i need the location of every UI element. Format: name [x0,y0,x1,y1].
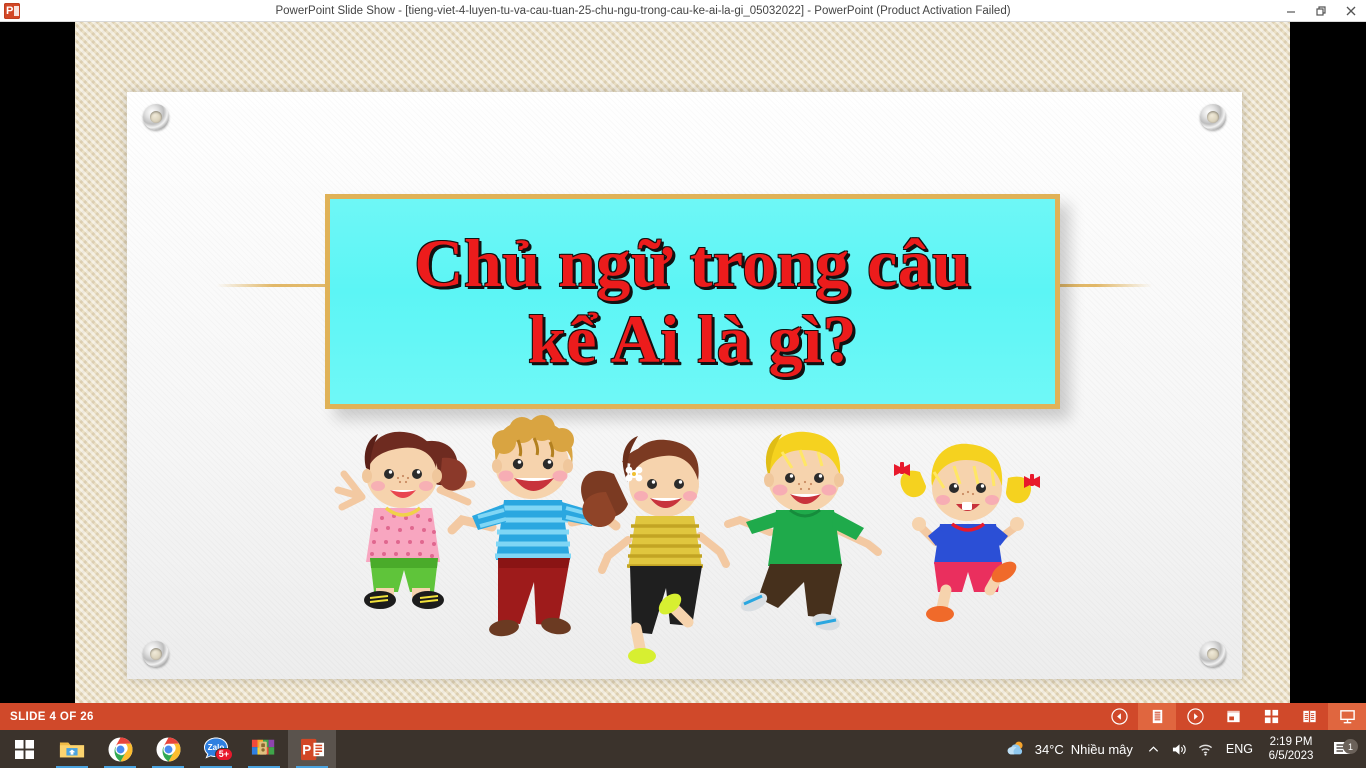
end-show-button[interactable] [1328,703,1366,730]
system-tray: 34°C Nhiều mây ENG 2:19 P [998,730,1366,768]
taskbar-winrar[interactable] [240,730,288,768]
taskbar-chrome-1[interactable] [96,730,144,768]
taskbar-powerpoint[interactable]: P [288,730,336,768]
cloud-sun-icon [1006,740,1028,758]
slide-title-line-2: kể Ai là gì? [528,305,857,374]
notification-badge: 1 [1343,739,1358,754]
slideshow-status-bar: SLIDE 4 OF 26 [0,703,1366,730]
all-slides-button[interactable] [1252,703,1290,730]
chrome-icon [108,737,133,762]
kid-2 [452,415,616,638]
kid-5 [894,444,1040,622]
show-hidden-icons-button[interactable] [1141,743,1167,756]
children-illustration [322,412,1062,672]
kid-1 [338,432,472,609]
clock[interactable]: 2:19 PM 6/5/2023 [1260,735,1322,764]
taskbar-file-explorer[interactable] [48,730,96,768]
start-button[interactable] [0,730,48,768]
slide-canvas[interactable]: Chủ ngữ trong câu kể Ai là gì? [127,92,1242,679]
clock-date: 6/5/2023 [1269,749,1314,763]
winrar-icon [251,737,277,761]
slide-counter: SLIDE 4 OF 26 [0,711,94,723]
volume-button[interactable] [1167,742,1193,757]
minimize-button[interactable] [1276,0,1306,22]
next-slide-button[interactable] [1176,703,1214,730]
grommet-bottom-left-icon [143,641,169,667]
chrome-icon [156,737,181,762]
hair-tie-right [1024,474,1040,488]
taskbar-zalo[interactable]: Zalo 5+ [192,730,240,768]
chevron-up-icon [1147,743,1160,756]
pen-tools-button[interactable] [1138,703,1176,730]
window-controls [1276,0,1366,22]
window-title-bar: PowerPoint Slide Show - [tieng-viet-4-lu… [0,0,1366,22]
weather-condition: Nhiều mây [1071,742,1133,757]
slide-title-line-1: Chủ ngữ trong câu [414,229,970,298]
clock-time: 2:19 PM [1270,735,1313,749]
windows-taskbar: Zalo 5+ P [0,730,1366,768]
slide-title-box: Chủ ngữ trong câu kể Ai là gì? [325,194,1060,409]
slide-zoom-button[interactable] [1214,703,1252,730]
window-title: PowerPoint Slide Show - [tieng-viet-4-lu… [20,5,1366,17]
slideshow-backdrop: Chủ ngữ trong câu kể Ai là gì? [0,22,1366,703]
folder-icon [59,737,85,761]
grommet-bottom-right-icon [1200,641,1226,667]
powerpoint-icon [4,3,20,19]
speaker-icon [1171,742,1188,757]
restore-button[interactable] [1306,0,1336,22]
weather-temperature: 34°C [1035,742,1064,757]
grommet-top-left-icon [143,104,169,130]
previous-slide-button[interactable] [1100,703,1138,730]
network-button[interactable] [1193,742,1219,757]
slideshow-toolbar [1100,703,1366,730]
grommet-top-right-icon [1200,104,1226,130]
powerpoint-icon: P [300,737,325,762]
close-button[interactable] [1336,0,1366,22]
presenter-view-button[interactable] [1290,703,1328,730]
kid-3 [581,436,726,664]
language-indicator[interactable]: ENG [1219,742,1260,756]
svg-text:P: P [302,742,311,757]
hair-tie-left [894,462,910,476]
wifi-icon [1197,742,1214,757]
taskbar-chrome-2[interactable] [144,730,192,768]
kid-4 [728,432,878,633]
weather-widget[interactable]: 34°C Nhiều mây [998,740,1141,758]
notification-center-button[interactable]: 1 [1322,740,1362,758]
zalo-badge: 5+ [215,748,233,761]
